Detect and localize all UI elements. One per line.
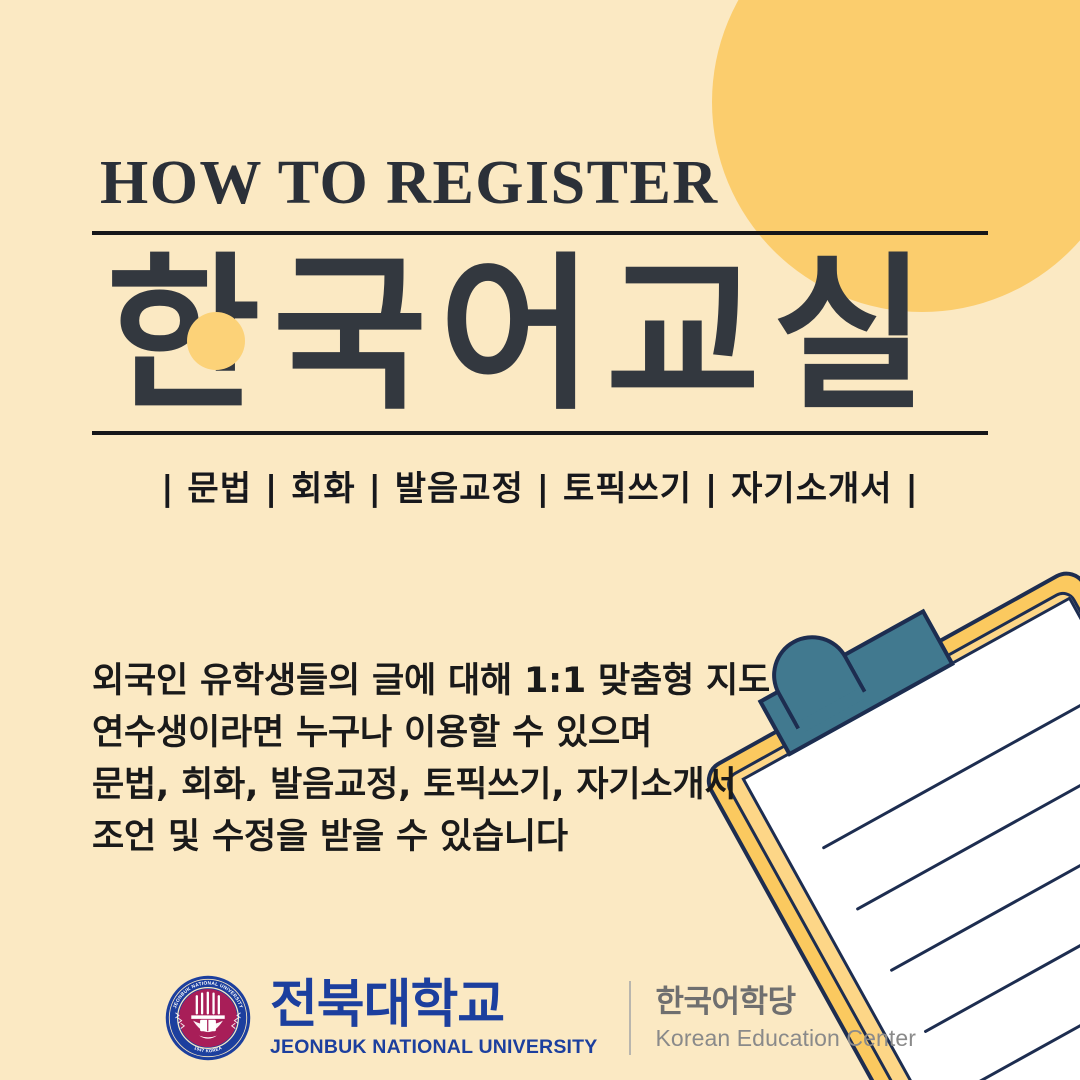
paper-rule-line [822, 702, 1080, 850]
university-seal-icon: JEONBUK NATIONAL UNIVERSITY 1947 KOREA [164, 974, 252, 1062]
paper-rule-line [856, 763, 1080, 911]
university-name-en: JEONBUK NATIONAL UNIVERSITY [270, 1038, 598, 1058]
kicker-how-to-register: HOW TO REGISTER [92, 152, 988, 214]
center-name-en: Korean Education Center [655, 1027, 916, 1050]
page-title-korean: 한국어교실 [92, 235, 988, 431]
footer-logo-lockup: JEONBUK NATIONAL UNIVERSITY 1947 KOREA 전… [0, 974, 1080, 1062]
poster-canvas: HOW TO REGISTER 한국어교실 | 문법 | 회화 | 발음교정 |… [0, 0, 1080, 1080]
body-line: 문법, 회화, 발음교정, 토픽쓰기, 자기소개서 [92, 759, 792, 811]
header-block: HOW TO REGISTER 한국어교실 | 문법 | 회화 | 발음교정 |… [92, 152, 988, 510]
body-paragraph: 외국인 유학생들의 글에 대해 1:1 맞춤형 지도 연수생이라면 누구나 이용… [92, 655, 792, 863]
university-name-ko: 전북대학교 [270, 979, 504, 1031]
lockup-divider [629, 981, 631, 1055]
body-line: 조언 및 수정을 받을 수 있습니다 [92, 811, 792, 863]
paper-rule-line [890, 824, 1080, 972]
body-line: 연수생이라면 누구나 이용할 수 있으며 [92, 707, 792, 759]
university-name-block: 전북대학교 JEONBUK NATIONAL UNIVERSITY [270, 979, 598, 1058]
center-name-ko: 한국어학당 [655, 987, 795, 1018]
center-name-block: 한국어학당 Korean Education Center [655, 987, 916, 1050]
subtitle-course-list: | 문법 | 회화 | 발음교정 | 토픽쓰기 | 자기소개서 | [92, 435, 988, 510]
body-line: 외국인 유학생들의 글에 대해 1:1 맞춤형 지도 [92, 655, 792, 707]
